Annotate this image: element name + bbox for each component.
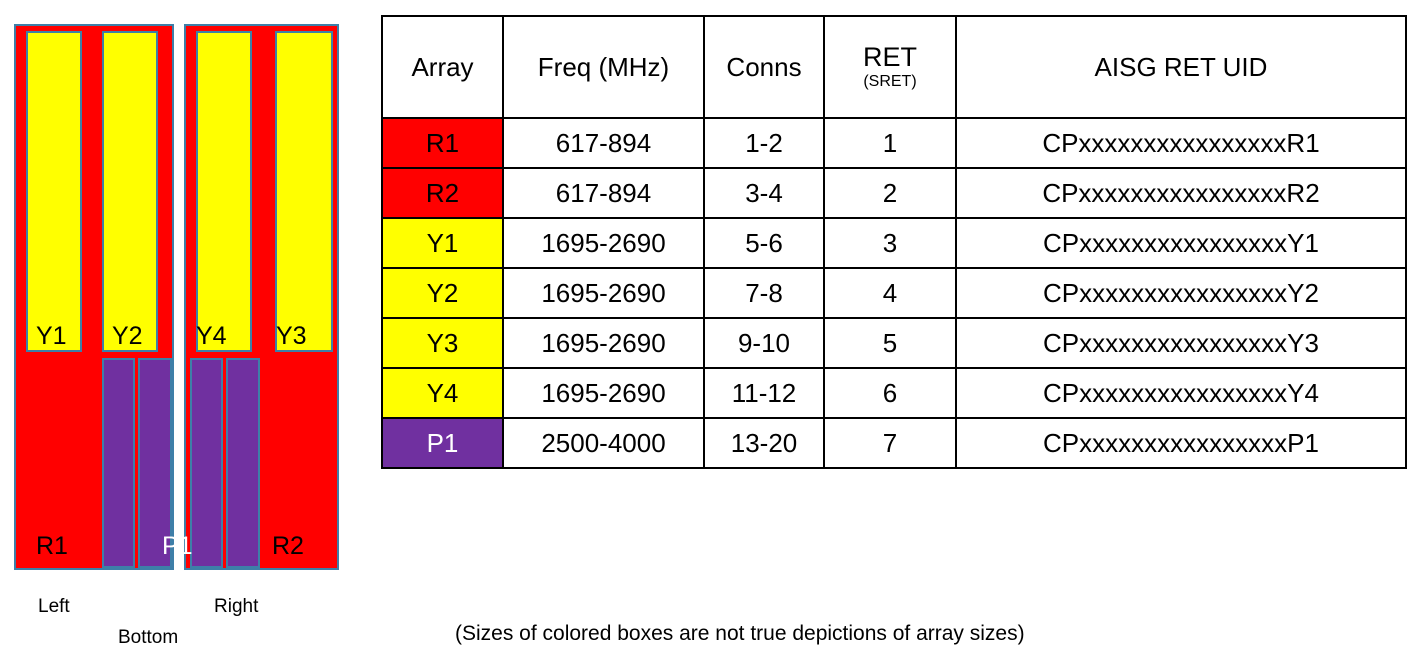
table-row: Y31695-26909-105CPxxxxxxxxxxxxxxxxY3 xyxy=(382,318,1406,368)
cell-aisg-ret-uid: CPxxxxxxxxxxxxxxxxY2 xyxy=(956,268,1406,318)
array-label-y1: Y1 xyxy=(36,324,67,349)
table-header-row: Array Freq (MHz) Conns RET (SRET) AISG R… xyxy=(382,16,1406,118)
cell-array: Y3 xyxy=(382,318,503,368)
cell-freq: 1695-2690 xyxy=(503,268,704,318)
cell-ret: 6 xyxy=(824,368,956,418)
array-block-y2 xyxy=(102,31,158,352)
cell-array: R1 xyxy=(382,118,503,168)
cell-ret: 5 xyxy=(824,318,956,368)
table-row: R1617-8941-21CPxxxxxxxxxxxxxxxxR1 xyxy=(382,118,1406,168)
table-row: P12500-400013-207CPxxxxxxxxxxxxxxxxP1 xyxy=(382,418,1406,468)
cell-aisg-ret-uid: CPxxxxxxxxxxxxxxxxY1 xyxy=(956,218,1406,268)
cell-conns: 3-4 xyxy=(704,168,824,218)
cell-array: R2 xyxy=(382,168,503,218)
cell-freq: 1695-2690 xyxy=(503,368,704,418)
cell-freq: 1695-2690 xyxy=(503,318,704,368)
cell-aisg-ret-uid: CPxxxxxxxxxxxxxxxxY3 xyxy=(956,318,1406,368)
array-block-p1-segment-3 xyxy=(190,358,223,568)
cell-array: Y4 xyxy=(382,368,503,418)
table-body: R1617-8941-21CPxxxxxxxxxxxxxxxxR1R2617-8… xyxy=(382,118,1406,468)
array-block-y1 xyxy=(26,31,82,352)
cell-aisg-ret-uid: CPxxxxxxxxxxxxxxxxY4 xyxy=(956,368,1406,418)
table-header: Array Freq (MHz) Conns RET (SRET) AISG R… xyxy=(382,16,1406,118)
cell-freq: 617-894 xyxy=(503,118,704,168)
table-row: Y41695-269011-126CPxxxxxxxxxxxxxxxxY4 xyxy=(382,368,1406,418)
table-row: Y21695-26907-84CPxxxxxxxxxxxxxxxxY2 xyxy=(382,268,1406,318)
cell-conns: 9-10 xyxy=(704,318,824,368)
antenna-panel-right xyxy=(184,24,339,570)
antenna-panel-left xyxy=(14,24,174,570)
array-label-r1: R1 xyxy=(36,534,68,559)
cell-conns: 7-8 xyxy=(704,268,824,318)
cell-ret: 2 xyxy=(824,168,956,218)
cell-freq: 2500-4000 xyxy=(503,418,704,468)
cell-conns: 11-12 xyxy=(704,368,824,418)
column-header-ret: RET (SRET) xyxy=(824,16,956,118)
array-label-y4: Y4 xyxy=(196,324,227,349)
table-row: R2617-8943-42CPxxxxxxxxxxxxxxxxR2 xyxy=(382,168,1406,218)
array-block-y3 xyxy=(275,31,333,352)
cell-ret: 4 xyxy=(824,268,956,318)
cell-freq: 617-894 xyxy=(503,168,704,218)
column-header-array: Array xyxy=(382,16,503,118)
array-configuration-table: Array Freq (MHz) Conns RET (SRET) AISG R… xyxy=(381,15,1407,469)
cell-freq: 1695-2690 xyxy=(503,218,704,268)
orientation-label-bottom: Bottom xyxy=(118,627,178,649)
cell-aisg-ret-uid: CPxxxxxxxxxxxxxxxxR1 xyxy=(956,118,1406,168)
array-label-r2: R2 xyxy=(272,534,304,559)
array-block-y4 xyxy=(196,31,252,352)
orientation-label-left: Left xyxy=(38,596,70,618)
cell-conns: 5-6 xyxy=(704,218,824,268)
cell-array: P1 xyxy=(382,418,503,468)
cell-array: Y2 xyxy=(382,268,503,318)
footnote-text: (Sizes of colored boxes are not true dep… xyxy=(455,622,1025,646)
array-label-p1: P1 xyxy=(162,534,193,559)
column-header-conns: Conns xyxy=(704,16,824,118)
cell-conns: 1-2 xyxy=(704,118,824,168)
array-block-p1-segment-4 xyxy=(226,358,260,568)
column-header-ret-main: RET xyxy=(825,43,955,71)
array-label-y3: Y3 xyxy=(276,324,307,349)
column-header-ret-sub: (SRET) xyxy=(825,72,955,91)
cell-aisg-ret-uid: CPxxxxxxxxxxxxxxxxR2 xyxy=(956,168,1406,218)
cell-ret: 1 xyxy=(824,118,956,168)
orientation-label-right: Right xyxy=(214,596,258,618)
table-row: Y11695-26905-63CPxxxxxxxxxxxxxxxxY1 xyxy=(382,218,1406,268)
array-block-p1-segment-1 xyxy=(102,358,135,568)
column-header-freq: Freq (MHz) xyxy=(503,16,704,118)
array-label-y2: Y2 xyxy=(112,324,143,349)
cell-ret: 7 xyxy=(824,418,956,468)
cell-ret: 3 xyxy=(824,218,956,268)
cell-conns: 13-20 xyxy=(704,418,824,468)
antenna-array-diagram: Y1 Y2 Y4 Y3 R1 R2 P1 xyxy=(14,24,339,570)
column-header-aisg-ret-uid: AISG RET UID xyxy=(956,16,1406,118)
cell-aisg-ret-uid: CPxxxxxxxxxxxxxxxxP1 xyxy=(956,418,1406,468)
cell-array: Y1 xyxy=(382,218,503,268)
